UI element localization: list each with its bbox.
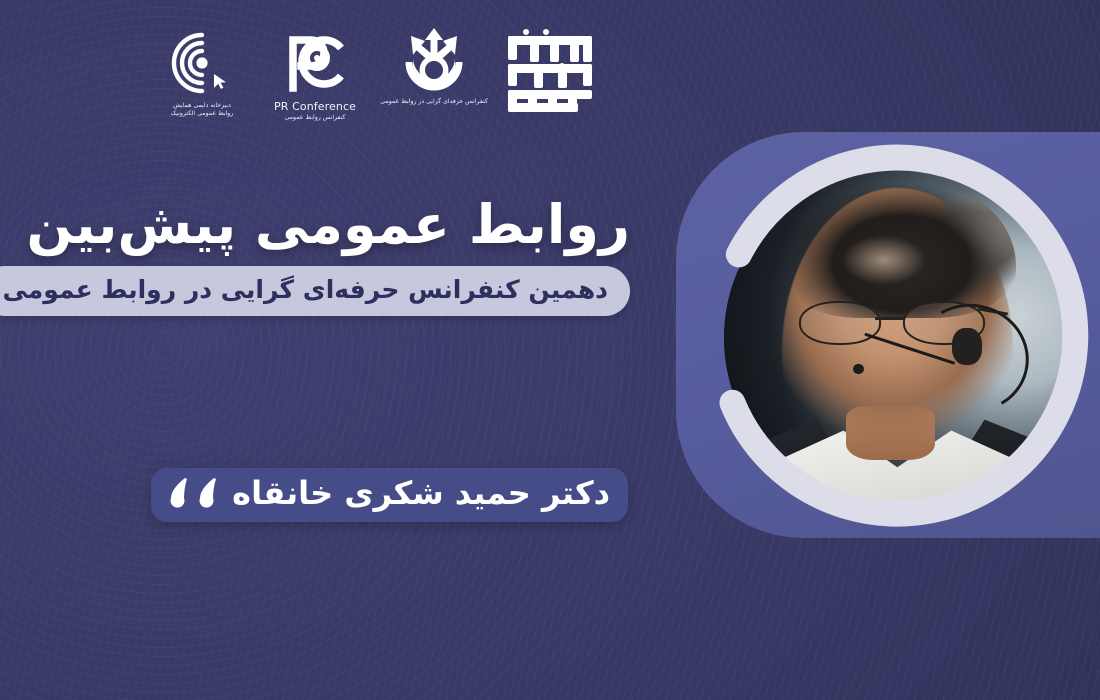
speaker-pill: دکتر حمید شکری خانقاه: [151, 468, 628, 522]
speaker-portrait-photo: [724, 168, 1064, 508]
headline-block: روابط عمومی پیش‌بین دهمین کنفرانس حرفه‌ا…: [70, 196, 630, 316]
page-title: روابط عمومی پیش‌بین: [70, 196, 630, 254]
logo-caption-line1: دبیرخانه دایمی همایش: [171, 102, 234, 110]
logo-pr-conference[interactable]: PR Conference کنفرانس روابط عمومی: [260, 28, 370, 122]
pr-week-calligraphy-icon: [500, 28, 600, 120]
pc-monogram-icon: [281, 28, 349, 96]
logo-professionalism-conference[interactable]: کنفرانس حرفه‌ای گرایی در روابط عمومی: [380, 28, 488, 106]
logo-caption-line2: روابط عمومی الکترونیک: [171, 110, 234, 118]
concentric-rings-cursor-icon: [167, 28, 237, 98]
double-quote-icon: [165, 476, 218, 510]
logo-caption-line1: کنفرانس حرفه‌ای گرایی در روابط عمومی: [380, 98, 488, 106]
logo-pr-week[interactable]: هفته روابط عمومی: [490, 28, 610, 132]
subtitle-pill: دهمین کنفرانس حرفه‌ای گرایی در روابط عمو…: [0, 266, 630, 316]
banner-stage: دبیرخانه دایمی همایش روابط عمومی الکترون…: [0, 0, 1100, 700]
logo-caption-en: PR Conference: [274, 100, 356, 114]
arrow-burst-icon: [403, 28, 465, 94]
logo-row: دبیرخانه دایمی همایش روابط عمومی الکترون…: [150, 28, 620, 140]
logo-permanent-secretariat[interactable]: دبیرخانه دایمی همایش روابط عمومی الکترون…: [150, 28, 254, 118]
speaker-name: دکتر حمید شکری خانقاه: [232, 477, 610, 509]
logo-caption-line2: کنفرانس روابط عمومی: [274, 114, 356, 122]
